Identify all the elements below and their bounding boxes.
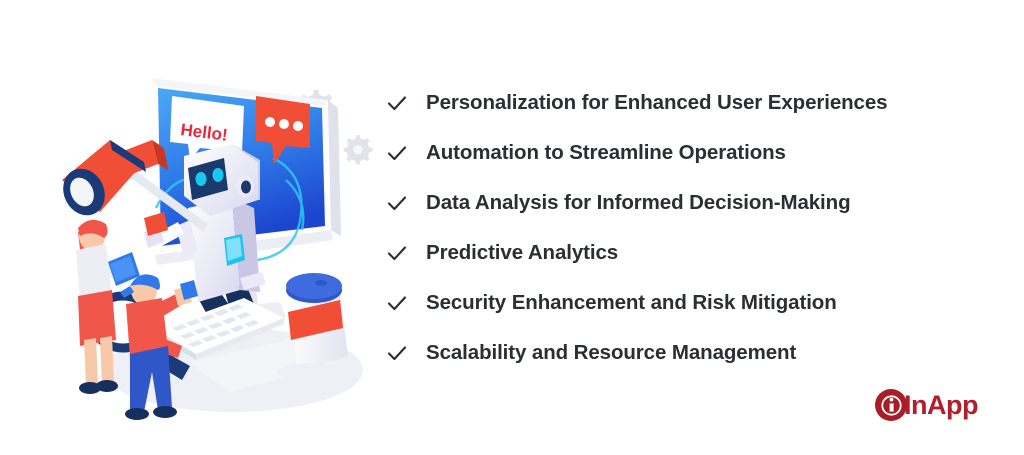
list-item: Predictive Analytics — [386, 228, 966, 278]
check-icon — [386, 342, 408, 364]
ai-chatbot-workspace-illustration: Hello! — [48, 40, 388, 420]
list-item-label: Personalization for Enhanced User Experi… — [426, 93, 887, 114]
check-icon — [386, 92, 408, 114]
list-item: Data Analysis for Informed Decision-Maki… — [386, 178, 966, 228]
inapp-logo[interactable]: InApp — [874, 384, 994, 426]
list-item-label: Data Analysis for Informed Decision-Maki… — [426, 193, 851, 214]
check-icon — [386, 242, 408, 264]
inapp-logo-text: InApp — [904, 392, 978, 419]
base-shadow — [277, 363, 349, 381]
list-item: Automation to Streamline Operations — [386, 128, 966, 178]
infographic-page: Hello! — [0, 0, 1024, 455]
list-item-label: Automation to Streamline Operations — [426, 143, 786, 164]
list-item-label: Predictive Analytics — [426, 243, 618, 264]
list-item: Scalability and Resource Management — [386, 328, 966, 378]
inapp-logo-mark-icon — [874, 388, 908, 422]
list-item: Personalization for Enhanced User Experi… — [386, 78, 966, 128]
list-item-label: Scalability and Resource Management — [426, 343, 796, 364]
benefits-list: Personalization for Enhanced User Experi… — [386, 78, 966, 378]
list-item: Security Enhancement and Risk Mitigation — [386, 278, 966, 328]
check-icon — [386, 192, 408, 214]
check-icon — [386, 142, 408, 164]
list-item-label: Security Enhancement and Risk Mitigation — [426, 293, 837, 314]
check-icon — [386, 292, 408, 314]
